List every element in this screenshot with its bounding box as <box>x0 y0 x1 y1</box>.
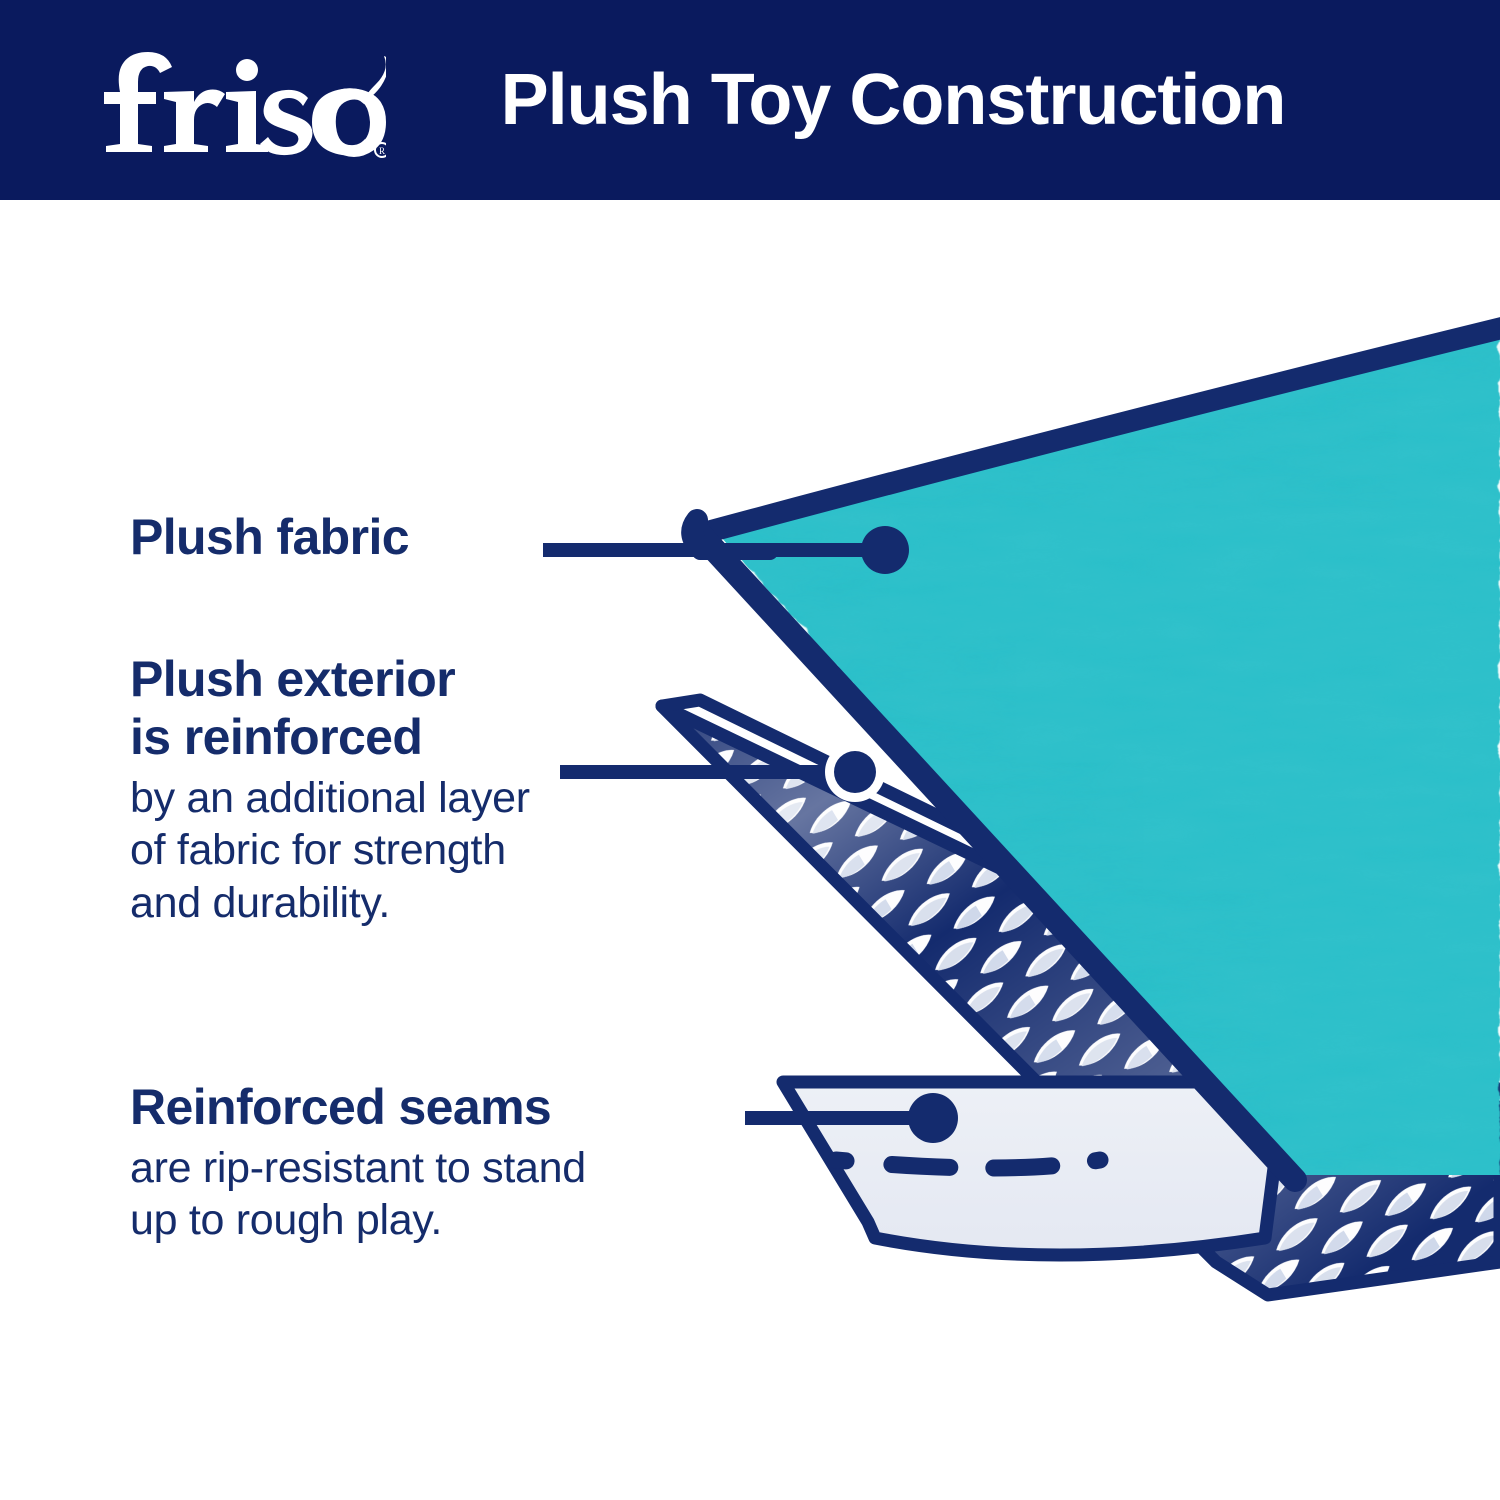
header-bar: R Plush Toy Construction <box>0 0 1500 200</box>
frisco-logo: R <box>86 40 386 160</box>
callout-heading-reinforced-seams: Reinforced seams <box>130 1078 586 1136</box>
callout-heading-plush-fabric: Plush fabric <box>130 508 409 566</box>
marker-dot-plush-exterior <box>834 751 876 793</box>
callout-heading-plush-exterior: Plush exterior is reinforced <box>130 650 530 766</box>
callout-leader-lines <box>543 526 958 1143</box>
callout-plush-fabric: Plush fabric <box>130 508 409 566</box>
callout-plush-exterior: Plush exterior is reinforced by an addit… <box>130 650 530 929</box>
seam-flap <box>783 1082 1285 1255</box>
svg-text:R: R <box>379 146 385 156</box>
infographic-page: R Plush Toy Construction <box>0 0 1500 1500</box>
marker-dot-reinforced-seams <box>908 1093 958 1143</box>
callout-body-plush-exterior: by an additional layer of fabric for str… <box>130 772 530 929</box>
marker-ring-plush-exterior-halo <box>825 742 885 802</box>
marker-dot-plush-fabric <box>861 526 909 574</box>
plush-fabric-surface <box>690 320 1500 1200</box>
page-title: Plush Toy Construction <box>386 64 1500 136</box>
callout-body-reinforced-seams: are rip-resistant to stand up to rough p… <box>130 1142 586 1247</box>
frisco-wordmark-icon: R <box>86 40 386 160</box>
reinforcement-mesh-layer <box>600 660 1500 1340</box>
callout-reinforced-seams: Reinforced seams are rip-resistant to st… <box>130 1078 586 1247</box>
